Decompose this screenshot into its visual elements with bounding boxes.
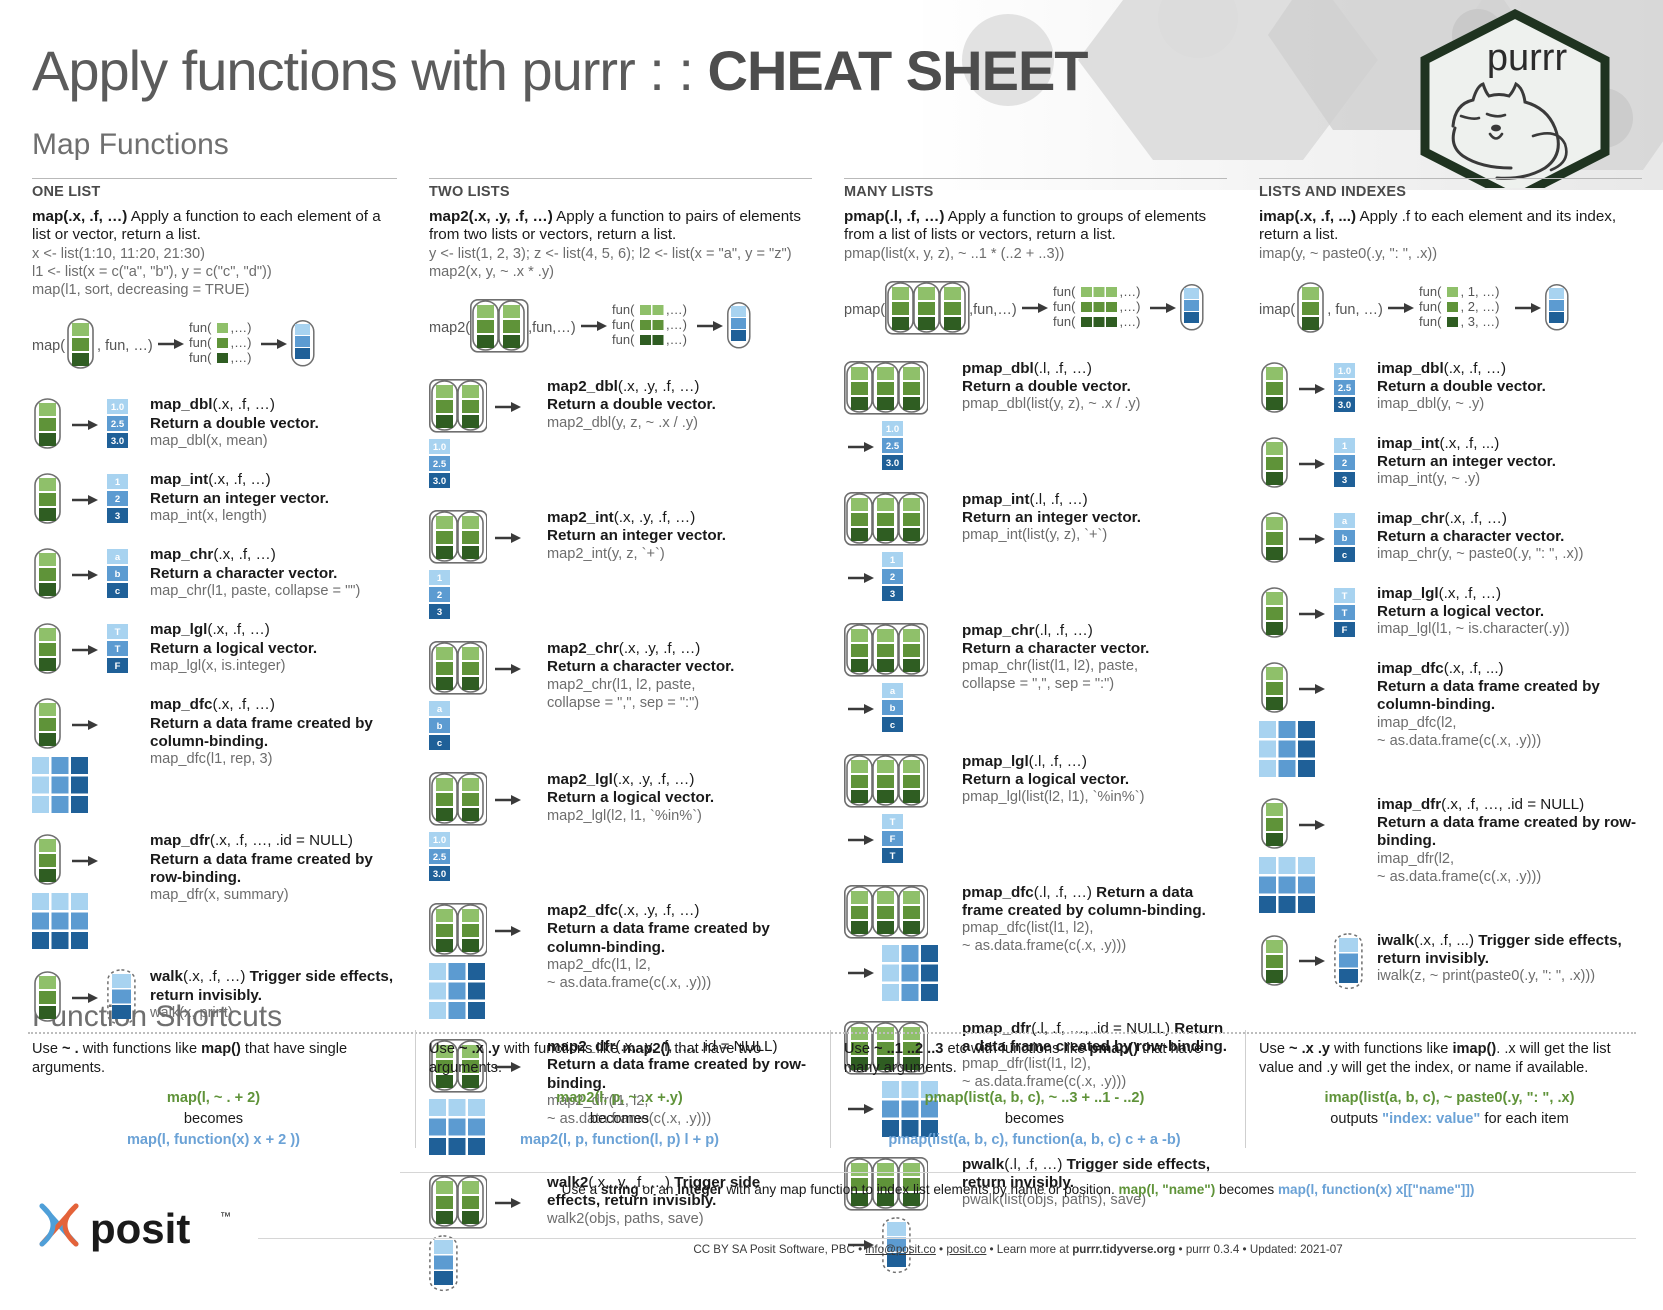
code-example: map_dbl(x, mean): [150, 433, 397, 451]
output-glyph: 1.02.53.0: [882, 421, 903, 477]
svg-text:F: F: [1342, 625, 1348, 636]
function-row: 1.02.53.0 imap_dbl(.x, .f, …)Return a do…: [1259, 359, 1642, 421]
output-glyph: [882, 945, 938, 1006]
footer-site-link[interactable]: posit.co: [946, 1243, 986, 1256]
function-glyph: [1259, 659, 1377, 782]
shortcut-green-code: map2(l, p, ~ .x +.y): [429, 1088, 810, 1109]
svg-text:T: T: [115, 644, 121, 655]
svg-text:,…): ,…): [230, 320, 251, 335]
code-example: iwalk(z, ~ print(paste0(.y, ": ", .x))): [1377, 968, 1642, 986]
footer-license: CC BY SA Posit Software, PBC: [693, 1243, 855, 1256]
code-example: pmap_chr(list(l1, l2), paste,: [962, 658, 1227, 676]
code-example: pmap_lgl(list(l2, l1), `%in%`): [962, 789, 1227, 807]
flow-input-list: [1295, 281, 1327, 340]
svg-text:T: T: [890, 851, 896, 862]
svg-text:3: 3: [1342, 475, 1347, 486]
svg-text:2: 2: [890, 572, 895, 583]
function-description: Return a logical vector.: [962, 771, 1227, 789]
output-glyph: 123: [882, 552, 903, 608]
arrow-icon: [72, 568, 98, 587]
svg-text:T: T: [1342, 608, 1348, 619]
function-text: map2_lgl(.x, .y, .f, …)Return a logical …: [547, 770, 812, 825]
svg-text:fun(: fun(: [1419, 299, 1442, 314]
arrow-icon: [72, 643, 98, 662]
function-glyph: TFT: [844, 752, 962, 870]
function-signature: map_int(.x, .f, …): [150, 471, 271, 488]
flow-label-mid: ,fun,…): [528, 320, 576, 336]
shortcut-tilde: ~ ..1 ..2 ..3: [874, 1041, 943, 1057]
code-example: imap_int(y, ~ .y): [1377, 471, 1642, 489]
function-text: imap_dbl(.x, .f, …)Return a double vecto…: [1377, 359, 1642, 414]
flow-arrow-1: [1022, 301, 1048, 319]
flow-fun-calls: fun(,…)fun(,…)fun(,…): [189, 321, 258, 371]
column-title: MANY LISTS: [844, 184, 1227, 200]
code-example: collapse = ",", sep = ":"): [962, 676, 1227, 694]
function-description: Return a data frame created by column-bi…: [150, 715, 397, 751]
footer-green-code: map(l, "name"): [1119, 1182, 1216, 1197]
function-signature: map_dfc(.x, .f, …): [150, 696, 275, 713]
function-description: Return a data frame created by row-bindi…: [150, 851, 397, 887]
flow-fun-calls: fun(, 1, …)fun(, 2, …)fun(, 3, …): [1419, 285, 1512, 335]
function-signature: pmap_dfc(.l, .f, …): [962, 884, 1092, 901]
code-example: pmap_dfc(list(l1, l2),: [962, 920, 1227, 938]
output-glyph: 1.02.53.0: [107, 399, 128, 455]
intro-args: .x, .y, .f, …): [474, 208, 553, 225]
function-signature: walk(.x, .f, …): [150, 968, 245, 985]
svg-text:T: T: [890, 817, 896, 828]
code-example: ~ as.data.frame(c(.x, .y))): [1377, 869, 1642, 887]
svg-text:1.0: 1.0: [433, 835, 446, 846]
map-functions-heading: Map Functions: [32, 128, 229, 162]
svg-text:fun(: fun(: [1053, 314, 1076, 329]
svg-text:1.0: 1.0: [111, 402, 124, 413]
function-text: imap_dfr(.x, .f, …, .id = NULL)Return a …: [1377, 795, 1642, 886]
svg-text:fun(: fun(: [1419, 314, 1442, 329]
function-description: Return a data frame created by column-bi…: [1377, 678, 1642, 714]
shortcut-description: Use ~ ..1 ..2 ..3 etc with functions lik…: [844, 1040, 1225, 1077]
svg-text:fun(: fun(: [1053, 299, 1076, 314]
column-intro: map2(.x, .y, .f, …) Apply a function to …: [429, 208, 812, 281]
function-description: Return an integer vector.: [547, 527, 812, 545]
output-glyph: [32, 757, 88, 818]
svg-text:™: ™: [220, 1211, 231, 1223]
input-list-glyph: [1259, 586, 1291, 646]
function-row: walk(.x, .f, …) Trigger side effects, re…: [32, 967, 397, 1031]
code-example: map2_dfc(l1, l2,: [547, 957, 812, 975]
svg-text:1.0: 1.0: [433, 442, 446, 453]
svg-text:c: c: [115, 586, 120, 597]
code-example: ~ as.data.frame(c(.x, .y))): [547, 975, 812, 993]
function-signature: pmap_lgl(.l, .f, …): [962, 753, 1087, 770]
function-glyph: [844, 1155, 962, 1279]
function-text: map_lgl(.x, .f, …)Return a logical vecto…: [150, 620, 397, 675]
arrow-icon: [72, 991, 98, 1010]
function-rows: 1.02.53.0 map_dbl(.x, .f, …)Return a dou…: [32, 395, 397, 1031]
intro-code-line: l1 <- list(x = c("a", "b"), y = c("c", "…: [32, 263, 397, 281]
shortcut-becomes: becomes: [429, 1109, 810, 1130]
intro-args: .x, .f, ...): [1300, 208, 1357, 225]
input-list-glyph: [32, 472, 64, 532]
flow-arrow-2: [1515, 301, 1541, 319]
function-description: Return an integer vector.: [150, 490, 397, 508]
input-list-glyph: [429, 772, 487, 832]
shortcut-blue-code: map2(l, p, function(l, p) l + p): [429, 1130, 810, 1151]
svg-text:1: 1: [890, 555, 896, 566]
output-glyph: abc: [1334, 513, 1355, 569]
function-glyph: [1259, 931, 1377, 995]
function-text: map_chr(.x, .f, …)Return a character vec…: [150, 545, 397, 600]
function-row: map_dfc(.x, .f, …)Return a data frame cr…: [32, 695, 397, 818]
function-signature: map_lgl(.x, .f, …): [150, 621, 270, 638]
function-signature: imap_dfc(.x, .f, ...): [1377, 660, 1504, 677]
arrow-icon: [1299, 457, 1325, 476]
flow-input-list: [885, 281, 969, 340]
input-list-glyph: [1259, 661, 1291, 721]
arrow-icon: [1299, 818, 1325, 837]
svg-text:,…): ,…): [230, 335, 251, 350]
function-text: imap_lgl(.x, .f, …)Return a logical vect…: [1377, 584, 1642, 639]
svg-text:, 2, …): , 2, …): [1460, 299, 1499, 314]
svg-text:1: 1: [437, 573, 443, 584]
input-list-glyph: [32, 397, 64, 457]
function-row: 1.02.53.0 map2_dbl(.x, .y, .f, …)Return …: [429, 377, 812, 495]
function-row: pwalk(.l, .f, …) Trigger side effects, r…: [844, 1155, 1227, 1279]
function-description: Return a double vector.: [1377, 378, 1642, 396]
arrow-icon: [495, 924, 521, 943]
function-text: map_dbl(.x, .f, …)Return a double vector…: [150, 395, 397, 450]
function-description: Return a character vector.: [547, 658, 812, 676]
code-example: map2_lgl(l2, l1, `%in%`): [547, 808, 812, 826]
function-signature: map2_dfc(.x, .y, .f, …): [547, 902, 699, 919]
svg-text:purrr: purrr: [1487, 37, 1568, 79]
function-row: abc imap_chr(.x, .f, …)Return a characte…: [1259, 509, 1642, 571]
column-title: TWO LISTS: [429, 184, 812, 200]
input-list-glyph: [32, 622, 64, 682]
arrow-icon: [1299, 954, 1325, 973]
function-text: map2_chr(.x, .y, .f, …)Return a characte…: [547, 639, 812, 712]
column-intro: pmap(.l, .f, …) Apply a function to grou…: [844, 208, 1227, 263]
function-signature: imap_lgl(.x, .f, …): [1377, 585, 1501, 602]
function-description: Return a data frame created by row-bindi…: [1377, 814, 1642, 850]
function-glyph: abc: [844, 621, 962, 739]
flow-fun-calls: fun(,…)fun(,…)fun(,…): [612, 303, 693, 353]
flow-label-left: map(: [32, 338, 65, 354]
code-example: walk2(objs, paths, save): [547, 1211, 812, 1229]
output-glyph: [1259, 857, 1315, 918]
function-text: map_dfr(.x, .f, …, .id = NULL)Return a d…: [150, 831, 397, 905]
function-row: abc map_chr(.x, .f, …)Return a character…: [32, 545, 397, 607]
column-rule: [32, 178, 397, 179]
output-glyph: 123: [107, 474, 128, 530]
purrr-hex-logo: purrr: [1395, 8, 1635, 188]
flow-output-list: [1545, 284, 1573, 336]
function-description: Return a logical vector.: [150, 640, 397, 658]
svg-text:3.0: 3.0: [1338, 400, 1351, 411]
arrow-icon: [848, 966, 874, 985]
intro-args: .x, .f, …): [68, 208, 127, 225]
flow-label-left: map2(: [429, 320, 470, 336]
shortcut-function: map(): [201, 1041, 241, 1057]
footer-divider-bottom: [258, 1238, 1636, 1239]
flow-arrow-1: [581, 319, 607, 337]
function-glyph: [32, 831, 150, 954]
svg-text:F: F: [115, 661, 121, 672]
footer-index-note: Use a string or an integer with any map …: [400, 1182, 1636, 1197]
function-text: map2_dbl(.x, .y, .f, …)Return a double v…: [547, 377, 812, 432]
input-list-glyph: [32, 970, 64, 1030]
svg-text:1: 1: [1342, 441, 1348, 452]
shortcut-becomes: becomes: [844, 1109, 1225, 1130]
posit-wordmark: posit: [90, 1205, 190, 1252]
function-text: map2_dfc(.x, .y, .f, …)Return a data fra…: [547, 901, 812, 992]
column-rule: [1259, 178, 1642, 179]
shortcut-description: Use ~ .x .y with functions like map2() t…: [429, 1040, 810, 1077]
input-list-glyph: [429, 641, 487, 701]
svg-text:b: b: [437, 721, 443, 732]
function-signature: pmap_dbl(.l, .f, …): [962, 360, 1092, 377]
code-example: imap_dfc(l2,: [1377, 715, 1642, 733]
svg-text:1.0: 1.0: [886, 424, 899, 435]
output-glyph: abc: [429, 701, 450, 757]
svg-text:2: 2: [115, 494, 120, 505]
shortcut-description: Use ~ . with functions like map() that h…: [32, 1040, 395, 1077]
svg-text:3: 3: [437, 607, 442, 618]
posit-logo: posit ™: [34, 1196, 244, 1254]
shortcut-example: pmap(list(a, b, c), ~ ..3 + ..1 - ..2) b…: [844, 1088, 1225, 1150]
arrow-icon: [848, 571, 874, 590]
function-glyph: [32, 695, 150, 818]
arrow-icon: [1299, 607, 1325, 626]
code-example: map_lgl(x, is.integer): [150, 658, 397, 676]
output-glyph: TTF: [1334, 588, 1355, 644]
arrow-icon: [1299, 682, 1325, 701]
code-example: imap_lgl(l1, ~ is.character(.y)): [1377, 621, 1642, 639]
function-text: pmap_lgl(.l, .f, …)Return a logical vect…: [962, 752, 1227, 807]
svg-text:a: a: [437, 704, 443, 715]
arrow-icon: [72, 718, 98, 737]
code-example: map_int(x, length): [150, 508, 397, 526]
shortcut-output: outputs "index: value" for each item: [1259, 1109, 1640, 1130]
shortcut-example: map2(l, p, ~ .x +.y) becomes map2(l, p, …: [429, 1088, 810, 1150]
intro-function-name: pmap(: [844, 208, 890, 225]
function-signature: imap_chr(.x, .f, …): [1377, 510, 1507, 527]
function-glyph: [32, 967, 150, 1031]
input-list-glyph: [32, 833, 64, 893]
function-description: Return a double vector.: [962, 378, 1227, 396]
function-description: Return a logical vector.: [1377, 603, 1642, 621]
function-text: map_int(.x, .f, …)Return an integer vect…: [150, 470, 397, 525]
code-example: map2_dbl(y, z, ~ .x / .y): [547, 415, 812, 433]
svg-text:2.5: 2.5: [111, 419, 125, 430]
function-signature: imap_dbl(.x, .f, …): [1377, 360, 1506, 377]
function-description: Return a character vector.: [1377, 528, 1642, 546]
shortcut-block: Use ~ ..1 ..2 ..3 etc with functions lik…: [830, 1040, 1245, 1151]
input-list-glyph: [1259, 436, 1291, 496]
footer-divider-top: [400, 1172, 1636, 1173]
function-signature: pwalk(.l, .f, …): [962, 1156, 1062, 1173]
function-glyph: abc: [429, 639, 547, 757]
output-glyph: 1.02.53.0: [429, 832, 450, 888]
svg-text:1: 1: [115, 477, 121, 488]
function-signature: iwalk(.x, .f, ...): [1377, 932, 1474, 949]
function-glyph: 1.02.53.0: [844, 359, 962, 477]
footer-blue-code: map(l, function(x) x[["name"]]): [1278, 1182, 1474, 1197]
svg-text:a: a: [890, 686, 896, 697]
arrow-icon: [1299, 382, 1325, 401]
function-glyph: [1259, 795, 1377, 918]
column-title: LISTS AND INDEXES: [1259, 184, 1642, 200]
shortcut-block: Use ~ .x .y with functions like imap(). …: [1245, 1040, 1660, 1151]
code-example: imap_dbl(y, ~ .y): [1377, 396, 1642, 414]
svg-text:,…): ,…): [666, 302, 687, 317]
svg-text:T: T: [115, 627, 121, 638]
svg-text:3: 3: [890, 589, 895, 600]
shortcut-blue-code: map(l, function(x) x + 2 )): [32, 1130, 395, 1151]
input-list-glyph: [844, 492, 928, 552]
svg-text:,…): ,…): [1119, 284, 1140, 299]
function-text: pmap_int(.l, .f, …)Return an integer vec…: [962, 490, 1227, 545]
function-row: abc pmap_chr(.l, .f, …)Return a characte…: [844, 621, 1227, 739]
shortcut-function: pmap(): [1089, 1041, 1138, 1057]
function-text: pmap_dbl(.l, .f, …)Return a double vecto…: [962, 359, 1227, 414]
input-list-glyph: [844, 754, 928, 814]
function-row: map2_dfc(.x, .y, .f, …)Return a data fra…: [429, 901, 812, 1024]
function-signature: map_dbl(.x, .f, …): [150, 396, 275, 413]
svg-text:b: b: [1342, 533, 1348, 544]
function-signature: map2_int(.x, .y, .f, …): [547, 509, 695, 526]
intro-code-line: map(l1, sort, decreasing = TRUE): [32, 281, 397, 299]
shortcut-tilde: ~ .x .y: [459, 1041, 500, 1057]
shortcut-function: imap(): [1452, 1041, 1496, 1057]
arrow-icon: [72, 854, 98, 873]
code-example: map_chr(l1, paste, collapse = ""): [150, 583, 397, 601]
input-list-glyph: [429, 903, 487, 963]
function-text: map2_int(.x, .y, .f, …)Return an integer…: [547, 508, 812, 563]
output-glyph: [107, 969, 136, 1031]
svg-text:,…): ,…): [230, 350, 251, 365]
function-text: map_dfc(.x, .f, …)Return a data frame cr…: [150, 695, 397, 769]
flow-diagram: imap( , fun, …) fun(, 1, …)fun(, 2, …)fu…: [1259, 277, 1642, 343]
intro-function-name: map(: [32, 208, 68, 225]
function-row: TFT pmap_lgl(.l, .f, …)Return a logical …: [844, 752, 1227, 870]
function-text: imap_int(.x, .f, ...)Return an integer v…: [1377, 434, 1642, 489]
flow-label-mid: ,fun,…): [969, 302, 1017, 318]
function-row: pmap_dfc(.l, .f, …) Return a data frame …: [844, 883, 1227, 1006]
code-example: imap_dfr(l2,: [1377, 851, 1642, 869]
input-list-glyph: [429, 510, 487, 570]
svg-text:3.0: 3.0: [433, 476, 446, 487]
title-main: Apply functions with purrr : :: [32, 39, 708, 102]
shortcut-example: map(l, ~ . + 2) becomes map(l, function(…: [32, 1088, 395, 1150]
input-list-glyph: [844, 361, 928, 421]
shortcut-example: imap(list(a, b, c), ~ paste0(.y, ": ", .…: [1259, 1088, 1640, 1129]
intro-code-line: x <- list(1:10, 11:20, 21:30): [32, 245, 397, 263]
svg-text:,…): ,…): [1119, 299, 1140, 314]
flow-diagram: map( , fun, …) fun(,…)fun(,…)fun(,…): [32, 313, 397, 379]
shortcut-becomes: becomes: [32, 1109, 395, 1130]
function-row: TTF map_lgl(.x, .f, …)Return a logical v…: [32, 620, 397, 682]
function-row: 123 imap_int(.x, .f, ...)Return an integ…: [1259, 434, 1642, 496]
arrow-icon: [495, 400, 521, 419]
function-signature: map2_dbl(.x, .y, .f, …): [547, 378, 699, 395]
arrow-icon: [848, 702, 874, 721]
svg-text:c: c: [437, 738, 442, 749]
footer-email-link[interactable]: info@posit.co: [865, 1243, 935, 1256]
output-glyph: abc: [107, 549, 128, 605]
arrow-icon: [495, 793, 521, 812]
flow-input-list: [65, 317, 97, 376]
svg-text:F: F: [890, 834, 896, 845]
svg-text:2: 2: [437, 590, 442, 601]
svg-text:b: b: [890, 703, 896, 714]
arrow-icon: [495, 662, 521, 681]
code-example: ~ as.data.frame(c(.x, .y))): [1377, 733, 1642, 751]
svg-text:,…): ,…): [666, 332, 687, 347]
intro-function-name: imap(: [1259, 208, 1300, 225]
shortcut-function: map2(): [622, 1041, 670, 1057]
shortcut-tail: for each item: [1480, 1111, 1568, 1127]
function-row: 123 map_int(.x, .f, …)Return an integer …: [32, 470, 397, 532]
svg-text:, 1, …): , 1, …): [1460, 284, 1499, 299]
function-text: imap_chr(.x, .f, …)Return a character ve…: [1377, 509, 1642, 564]
function-rows: 1.02.53.0 map2_dbl(.x, .y, .f, …)Return …: [429, 377, 812, 1297]
code-example: map_dfc(l1, rep, 3): [150, 751, 397, 769]
arrow-icon: [495, 531, 521, 550]
flow-label-left: imap(: [1259, 302, 1295, 318]
function-signature: imap_int(.x, .f, ...): [1377, 435, 1499, 452]
input-list-glyph: [1259, 934, 1291, 994]
function-glyph: [844, 883, 962, 1006]
flow-fun-calls: fun(,…)fun(,…)fun(,…): [1053, 285, 1147, 335]
function-signature: map2_chr(.x, .y, .f, …): [547, 640, 700, 657]
input-list-glyph: [844, 623, 928, 683]
svg-text:2.5: 2.5: [886, 441, 900, 452]
output-glyph: 123: [1334, 438, 1355, 494]
footer-updated: Updated: 2021-07: [1250, 1243, 1343, 1256]
function-row: imap_dfr(.x, .f, …, .id = NULL)Return a …: [1259, 795, 1642, 918]
function-description: Return a character vector.: [150, 565, 397, 583]
svg-text:3.0: 3.0: [886, 458, 899, 469]
shortcut-tilde: ~ .x .y: [1289, 1041, 1330, 1057]
intro-code-line: imap(y, ~ paste0(.y, ": ", .x)): [1259, 245, 1642, 263]
svg-text:2: 2: [1342, 458, 1347, 469]
flow-diagram: pmap( ,fun,…) fun(,…)fun(,…)fun(,…): [844, 277, 1227, 343]
shortcut-green-code: pmap(list(a, b, c), ~ ..3 + ..1 - ..2): [844, 1088, 1225, 1109]
code-example: imap_chr(y, ~ paste0(.y, ": ", .x)): [1377, 546, 1642, 564]
svg-text:c: c: [1342, 550, 1347, 561]
column-intro: imap(.x, .f, ...) Apply .f to each eleme…: [1259, 208, 1642, 263]
shortcut-blue-code: pmap(list(a, b, c), function(a, b, c) c …: [844, 1130, 1225, 1151]
function-row: 1.02.53.0 map2_lgl(.x, .y, .f, …)Return …: [429, 770, 812, 888]
shortcut-description: Use ~ .x .y with functions like imap(). …: [1259, 1040, 1640, 1077]
flow-output-list: [291, 320, 319, 372]
flow-diagram: map2( ,fun,…) fun(,…)fun(,…)fun(,…): [429, 295, 812, 361]
function-row: 123 map2_int(.x, .y, .f, …)Return an int…: [429, 508, 812, 626]
function-signature: map2_lgl(.x, .y, .f, …): [547, 771, 694, 788]
output-glyph: 1.02.53.0: [1334, 363, 1355, 419]
function-glyph: 123: [429, 508, 547, 626]
input-list-glyph: [844, 885, 928, 945]
shortcut-block: Use ~ . with functions like map() that h…: [0, 1040, 415, 1151]
arrow-icon: [72, 493, 98, 512]
svg-text:a: a: [115, 552, 121, 563]
arrow-icon: [72, 418, 98, 437]
function-row: imap_dfc(.x, .f, ...)Return a data frame…: [1259, 659, 1642, 782]
flow-arrow-2: [261, 337, 287, 355]
function-glyph: 123: [1259, 434, 1377, 496]
function-description: Return a logical vector.: [547, 789, 812, 807]
function-text: imap_dfc(.x, .f, ...)Return a data frame…: [1377, 659, 1642, 750]
